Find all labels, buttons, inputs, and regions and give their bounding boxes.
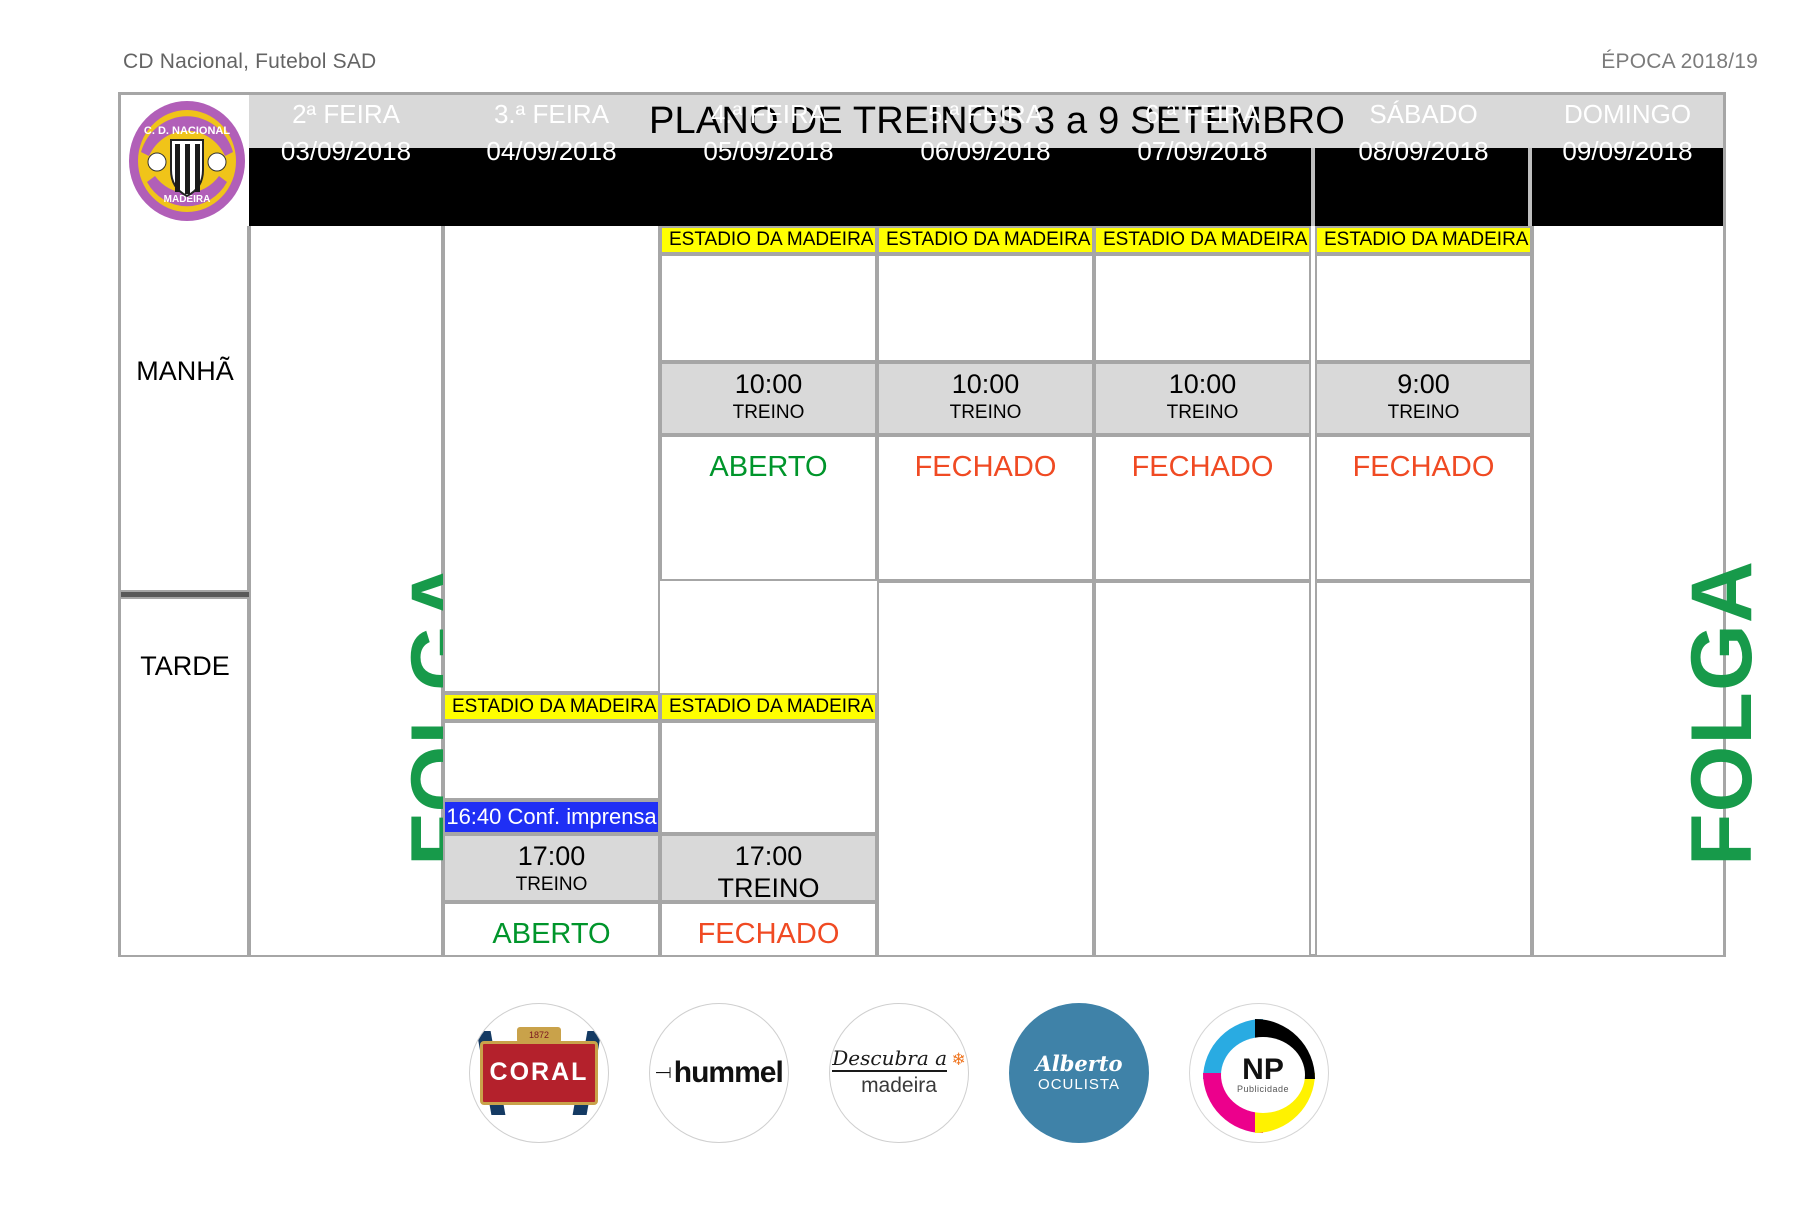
slot-time: 10:00 (1096, 367, 1309, 401)
slot-saturday-morning: 9:00 TREINO (1315, 362, 1532, 435)
venue-thursday-morning: ESTADIO DA MADEIRA (877, 226, 1094, 254)
slot-kind: TREINO (662, 873, 875, 903)
slot-tuesday-afternoon: 17:00 TREINO (443, 834, 660, 902)
sponsor-name-descubra: Descubra a (832, 1048, 947, 1072)
day-separator (1311, 148, 1315, 226)
club-label: CD Nacional, Futebol SAD (123, 50, 376, 74)
status-text: ABERTO (662, 451, 875, 484)
day-name: 3.ª FEIRA (443, 95, 660, 133)
day-date: 05/09/2018 (660, 133, 877, 169)
cell-saturday-morning-blank (1315, 254, 1532, 362)
day-name: SÁBADO (1315, 95, 1532, 133)
slot-time: 10:00 (879, 367, 1092, 401)
day-separator (1528, 148, 1532, 226)
venue-wednesday-afternoon: ESTADIO DA MADEIRA (660, 693, 877, 721)
day-header-thursday: 5.ª FEIRA 06/09/2018 (877, 95, 1094, 173)
period-divider (121, 592, 249, 597)
venue-tuesday-afternoon: ESTADIO DA MADEIRA (443, 693, 660, 721)
period-cell-morning (121, 226, 249, 592)
status-tuesday-afternoon: ABERTO (443, 902, 660, 955)
day-header-monday: 2ª FEIRA 03/09/2018 (249, 95, 443, 173)
day-header-sunday: DOMINGO 09/09/2018 (1532, 95, 1723, 173)
slot-time: 9:00 (1317, 367, 1530, 401)
sponsor-logo-hummel: ⟞ hummel (649, 1003, 789, 1143)
slot-time: 17:00 (445, 839, 658, 873)
venue-saturday-morning: ESTADIO DA MADEIRA (1315, 226, 1532, 254)
season-label: ÉPOCA 2018/19 (1601, 50, 1758, 74)
cell-saturday-afternoon (1315, 581, 1532, 955)
svg-text:C. D. NACIONAL: C. D. NACIONAL (144, 125, 230, 137)
training-plan-table: PLANO DE TREINOS 3 a 9 SETEMBRO 2ª FEIRA… (118, 92, 1726, 957)
training-plan-page: CD Nacional, Futebol SAD ÉPOCA 2018/19 P… (0, 0, 1798, 1206)
day-date: 06/09/2018 (877, 133, 1094, 169)
hummel-chevron-icon: ⟞ (655, 1061, 672, 1084)
day-header-wednesday: 4.ª FEIRA 05/09/2018 (660, 95, 877, 173)
day-header-friday: 6.ª FEIRA 07/09/2018 (1094, 95, 1311, 173)
day-date: 08/09/2018 (1315, 133, 1532, 169)
cell-wednesday-afternoon-blank (660, 721, 877, 834)
day-name: 2ª FEIRA (249, 95, 443, 133)
day-date: 03/09/2018 (249, 133, 443, 169)
slot-wednesday-morning: 10:00 TREINO (660, 362, 877, 435)
sponsor-sub-madeira: madeira (832, 1075, 966, 1097)
sponsor-logo-np-publicidade: NP Publicidade (1189, 1003, 1329, 1143)
sponsor-sub-publicidade: Publicidade (1237, 1084, 1289, 1094)
sponsor-logo-descubra-a-madeira: Descubra a ❄ madeira (829, 1003, 969, 1143)
status-text: FECHADO (662, 918, 875, 951)
slot-kind: TREINO (1317, 401, 1530, 425)
rest-label-sunday: FOLGA (1673, 560, 1772, 866)
status-saturday-morning: FECHADO (1315, 435, 1532, 581)
venue-wednesday-morning: ESTADIO DA MADEIRA (660, 226, 877, 254)
cell-thursday-afternoon (877, 581, 1094, 955)
sponsor-name-coral: CORAL (490, 1058, 589, 1087)
period-label-morning: MANHÃ (121, 356, 249, 387)
period-label-afternoon: TARDE (121, 651, 249, 682)
flower-icon: ❄ (952, 1050, 966, 1069)
day-name: 5.ª FEIRA (877, 95, 1094, 133)
status-friday-morning: FECHADO (1094, 435, 1311, 581)
status-wednesday-morning: ABERTO (660, 435, 877, 581)
sponsor-logo-coral: 1872 CORAL (469, 1003, 609, 1143)
status-text: ABERTO (445, 918, 658, 951)
cell-friday-morning-blank (1094, 254, 1311, 362)
sponsor-name-alberto: Alberto (1035, 1051, 1122, 1076)
slot-time: 10:00 (662, 367, 875, 401)
venue-friday-morning: ESTADIO DA MADEIRA (1094, 226, 1311, 254)
crest-container: C. D. NACIONAL MADEIRA (121, 95, 249, 226)
day-header-tuesday: 3.ª FEIRA 04/09/2018 (443, 95, 660, 173)
slot-wednesday-afternoon: 17:00 TREINO (660, 834, 877, 902)
day-header-saturday: SÁBADO 08/09/2018 (1315, 95, 1532, 173)
sponsor-name-hummel: hummel (674, 1056, 783, 1090)
sponsor-logo-alberto-oculista: Alberto OCULISTA (1009, 1003, 1149, 1143)
status-text: FECHADO (879, 451, 1092, 484)
day-date: 04/09/2018 (443, 133, 660, 169)
slot-time: 17:00 (662, 839, 875, 873)
sponsor-sub-oculista: OCULISTA (1038, 1076, 1120, 1093)
status-text: FECHADO (1096, 451, 1309, 484)
cell-wednesday-morning-blank (660, 254, 877, 362)
slot-thursday-morning: 10:00 TREINO (877, 362, 1094, 435)
plan-body: MANHÃ TARDE FOLGA FOLGA ESTADIO DA MADEI… (121, 226, 1723, 954)
status-wednesday-afternoon: FECHADO (660, 902, 877, 955)
day-name: 6.ª FEIRA (1094, 95, 1311, 133)
slot-kind: TREINO (879, 401, 1092, 425)
slot-kind: TREINO (445, 873, 658, 897)
slot-kind: TREINO (662, 401, 875, 425)
day-date: 09/09/2018 (1532, 133, 1723, 169)
slot-friday-morning: 10:00 TREINO (1094, 362, 1311, 435)
cell-tuesday-afternoon-blank (443, 721, 660, 800)
sponsor-name-np: NP (1242, 1056, 1284, 1084)
day-date: 07/09/2018 (1094, 133, 1311, 169)
club-crest-icon: C. D. NACIONAL MADEIRA (127, 100, 247, 222)
sponsor-strip: 1872 CORAL ⟞ hummel Descubra a ❄ madeira… (0, 985, 1798, 1160)
cell-tuesday-morning (443, 226, 660, 693)
press-conference-tuesday: 16:40 Conf. imprensa (443, 800, 660, 834)
slot-kind: TREINO (1096, 401, 1309, 425)
cell-friday-afternoon (1094, 581, 1311, 955)
status-text: FECHADO (1317, 451, 1530, 484)
cell-thursday-morning-blank (877, 254, 1094, 362)
status-thursday-morning: FECHADO (877, 435, 1094, 581)
day-name: DOMINGO (1532, 95, 1723, 133)
day-name: 4.ª FEIRA (660, 95, 877, 133)
